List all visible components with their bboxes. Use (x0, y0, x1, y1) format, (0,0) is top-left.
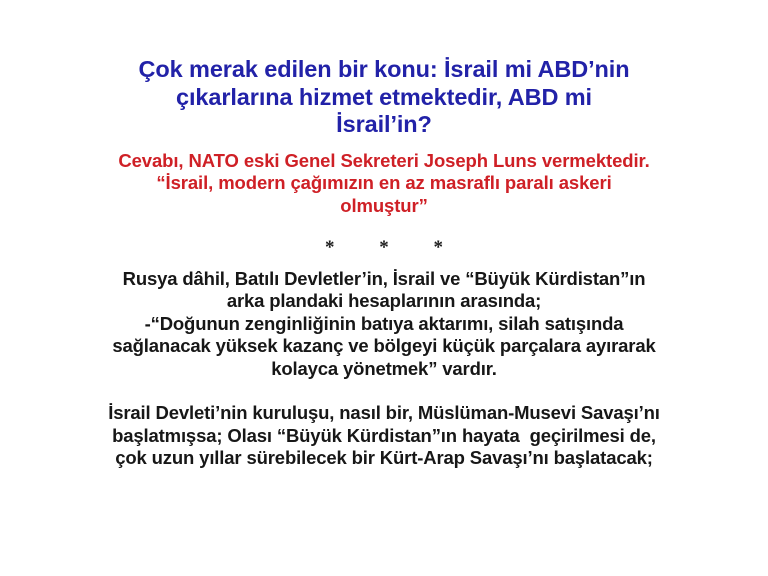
body-paragraph-2: İsrail Devleti’nin kuruluşu, nasıl bir, … (34, 402, 734, 469)
slide-subtitle: Cevabı, NATO eski Genel Sekreteri Joseph… (34, 150, 734, 218)
title-line-3: İsrail’in? (34, 111, 734, 139)
paragraph-1-line-1: Rusya dâhil, Batılı Devletler’in, İsrail… (34, 268, 734, 290)
title-line-2: çıkarlarına hizmet etmektedir, ABD mi (34, 84, 734, 112)
paragraph-1-line-2: arka plandaki hesaplarının arasında; (34, 290, 734, 312)
body-paragraph-1: Rusya dâhil, Batılı Devletler’in, İsrail… (34, 268, 734, 380)
paragraph-1-line-5: kolayca yönetmek” vardır. (34, 358, 734, 380)
subtitle-line-2: “İsrail, modern çağımızın en az masraflı… (34, 172, 734, 195)
title-line-1: Çok merak edilen bir konu: İsrail mi ABD… (34, 56, 734, 84)
asterisk-separator: * * * (34, 237, 734, 259)
paragraph-2-line-2: başlatmışsa; Olası “Büyük Kürdistan”ın h… (34, 425, 734, 447)
subtitle-line-3: olmuştur” (34, 195, 734, 218)
paragraph-2-line-1: İsrail Devleti’nin kuruluşu, nasıl bir, … (34, 402, 734, 424)
paragraph-1-line-4: sağlanacak yüksek kazanç ve bölgeyi küçü… (34, 335, 734, 357)
slide-body: Rusya dâhil, Batılı Devletler’in, İsrail… (34, 268, 734, 470)
slide-title: Çok merak edilen bir konu: İsrail mi ABD… (34, 56, 734, 139)
subtitle-line-1: Cevabı, NATO eski Genel Sekreteri Joseph… (34, 150, 734, 173)
slide-canvas: Çok merak edilen bir konu: İsrail mi ABD… (0, 0, 768, 576)
paragraph-2-line-3: çok uzun yıllar sürebilecek bir Kürt-Ara… (34, 447, 734, 469)
slide-content: Çok merak edilen bir konu: İsrail mi ABD… (0, 0, 768, 470)
paragraph-1-line-3: -“Doğunun zenginliğinin batıya aktarımı,… (34, 313, 734, 335)
